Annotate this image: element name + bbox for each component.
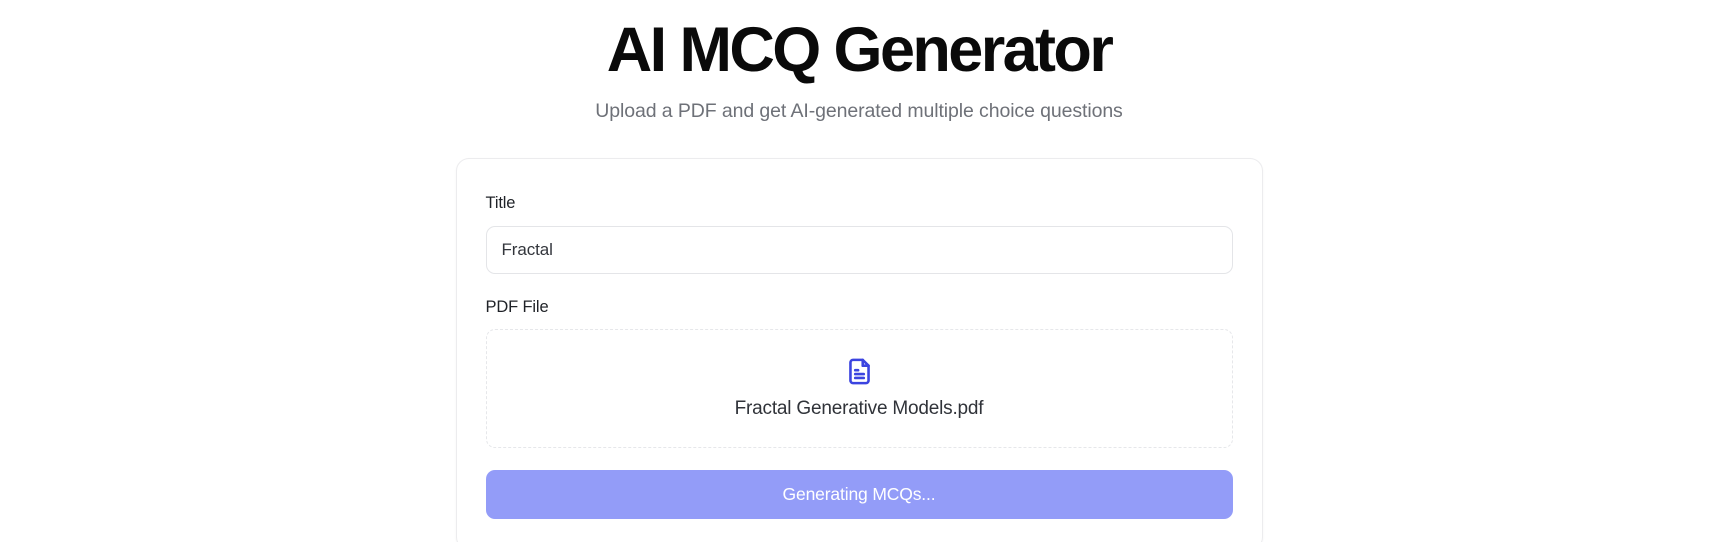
upload-form-card: Title PDF File Fractal Ge (456, 158, 1263, 542)
page-title: AI MCQ Generator (0, 16, 1718, 84)
page-subtitle: Upload a PDF and get AI-generated multip… (0, 98, 1718, 125)
document-text-icon (844, 356, 875, 387)
selected-file-name: Fractal Generative Models.pdf (735, 398, 984, 421)
pdf-field-group: PDF File Fractal Generative Models.pdf (486, 297, 1233, 448)
card-container: Title PDF File Fractal Ge (0, 158, 1718, 542)
pdf-dropzone[interactable]: Fractal Generative Models.pdf (486, 329, 1233, 448)
title-field-label: Title (486, 193, 1233, 214)
pdf-field-label: PDF File (486, 297, 1233, 318)
title-input[interactable] (486, 226, 1233, 274)
page-header: AI MCQ Generator Upload a PDF and get AI… (0, 16, 1718, 125)
app-root: AI MCQ Generator Upload a PDF and get AI… (0, 0, 1718, 542)
generate-mcqs-button[interactable]: Generating MCQs... (486, 470, 1233, 519)
title-field-group: Title (486, 193, 1233, 273)
